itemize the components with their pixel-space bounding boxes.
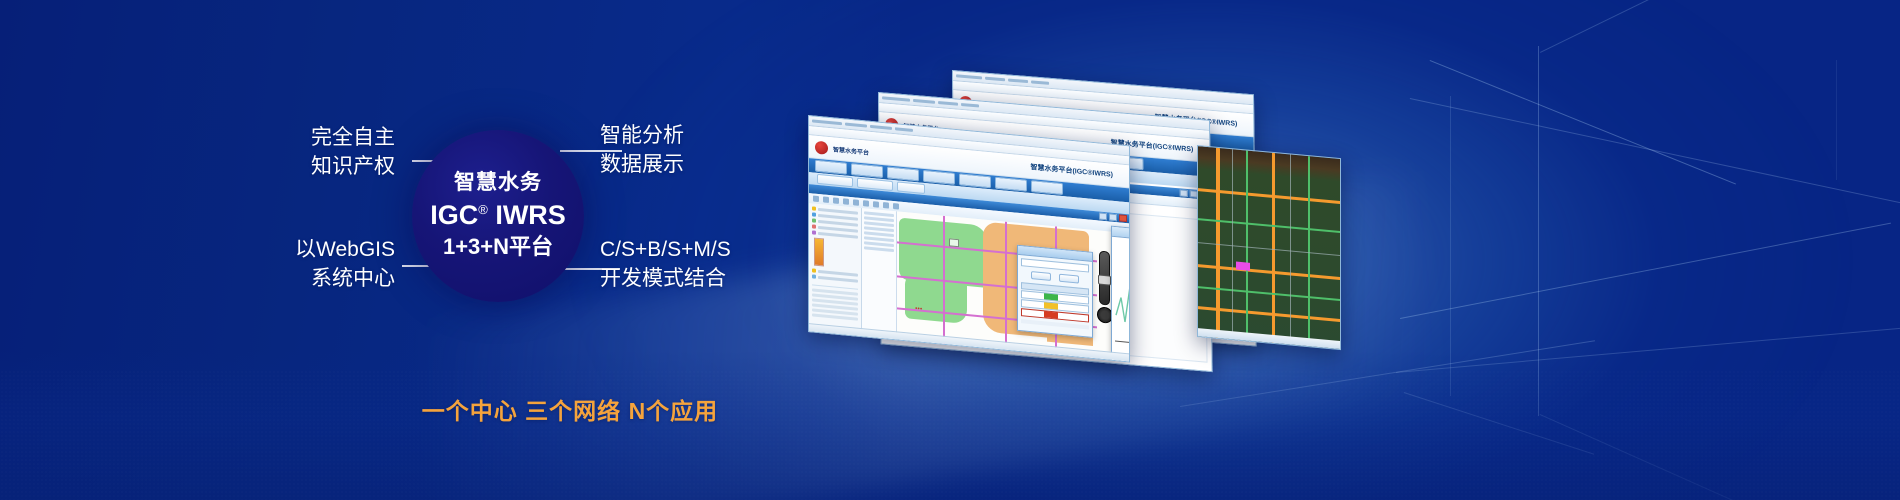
label-top-right-line1: 智能分析: [600, 122, 684, 151]
chrome-chip: [956, 74, 982, 79]
label-top-left-line1: 完全自主: [200, 124, 395, 153]
print-icon[interactable]: [893, 203, 899, 210]
app-window-1[interactable]: 智慧水务平台 智慧水务平台(IGC®IWRS): [808, 115, 1130, 362]
chrome-chip: [1031, 80, 1049, 84]
chrome-chip: [870, 125, 892, 130]
water-analysis-dialog[interactable]: [1017, 245, 1093, 338]
tagline: 一个中心 三个网络 N个应用: [360, 392, 780, 426]
map-node: [949, 238, 959, 247]
map-window[interactable]: [1197, 145, 1341, 350]
minimize-button[interactable]: [1099, 213, 1107, 221]
badge-line-2: IGC® IWRS: [430, 201, 566, 231]
identify-icon[interactable]: [883, 202, 889, 209]
central-badge[interactable]: 智慧水务 IGC® IWRS 1+3+N平台: [412, 130, 584, 302]
label-bottom-right-line2: 开发模式结合: [600, 265, 731, 294]
hero-diagram: 智慧水务 IGC® IWRS 1+3+N平台 完全自主 知识产权 智能分析 数据…: [0, 0, 820, 500]
map-label: ●●●: [915, 305, 922, 311]
measure-icon[interactable]: [873, 201, 879, 208]
label-bottom-right-line1: C/S+B/S+M/S: [600, 236, 731, 265]
badge-igc: IGC: [430, 200, 478, 230]
zoom-slider-handle[interactable]: [1098, 274, 1111, 285]
badge-line-3: 1+3+N平台: [443, 233, 553, 262]
label-bottom-right: C/S+B/S+M/S 开发模式结合: [600, 236, 731, 294]
dialog-query-button[interactable]: [1031, 271, 1051, 281]
registered-trademark-icon: ®: [478, 202, 488, 217]
label-top-right-line2: 数据展示: [600, 151, 684, 180]
maximize-button[interactable]: [1109, 213, 1117, 221]
minimize-button[interactable]: [1180, 189, 1188, 197]
label-bottom-left-line2: 系统中心: [190, 265, 395, 294]
chrome-chip: [938, 101, 958, 106]
feature-row[interactable]: [864, 246, 894, 252]
label-top-left-line2: 知识产权: [200, 153, 395, 182]
chrome-chip: [985, 77, 1005, 82]
dialog-clear-button[interactable]: [1059, 274, 1079, 284]
badge-line-1: 智慧水务: [454, 170, 542, 195]
pressure-chart-panel[interactable]: 流量趋势: [1111, 226, 1130, 363]
close-icon[interactable]: [1119, 214, 1127, 222]
banner-stage: 智慧水务平台(IGC®IWRS) 智慧水务平台(IGC®IWRS): [0, 0, 1900, 500]
label-bottom-left-line1: 以WebGIS: [190, 236, 395, 265]
label-top-left: 完全自主 知识产权: [200, 124, 395, 182]
chrome-chip: [961, 103, 979, 108]
save-icon[interactable]: [823, 196, 829, 203]
chrome-chip: [845, 122, 867, 127]
pan-icon[interactable]: [853, 199, 859, 206]
label-bottom-left: 以WebGIS 系统中心: [190, 236, 395, 294]
sat-highlight-area: [1236, 262, 1250, 271]
label-top-right: 智能分析 数据展示: [600, 122, 684, 180]
pressure-line-chart: [1112, 237, 1130, 363]
feature-list-panel[interactable]: [862, 208, 897, 339]
zoom-in-icon[interactable]: [833, 197, 839, 204]
chrome-chip: [1008, 79, 1028, 84]
app-title-1: 智慧水务平台(IGC®IWRS): [1030, 162, 1113, 180]
chrome-chip: [913, 99, 935, 104]
chrome-chip: [895, 127, 913, 132]
badge-iwrs: IWRS: [495, 200, 566, 230]
brand-name-1: 智慧水务平台: [833, 144, 869, 156]
chrome-chip: [882, 96, 910, 101]
select-icon[interactable]: [863, 200, 869, 207]
zoom-out-icon[interactable]: [843, 198, 849, 205]
